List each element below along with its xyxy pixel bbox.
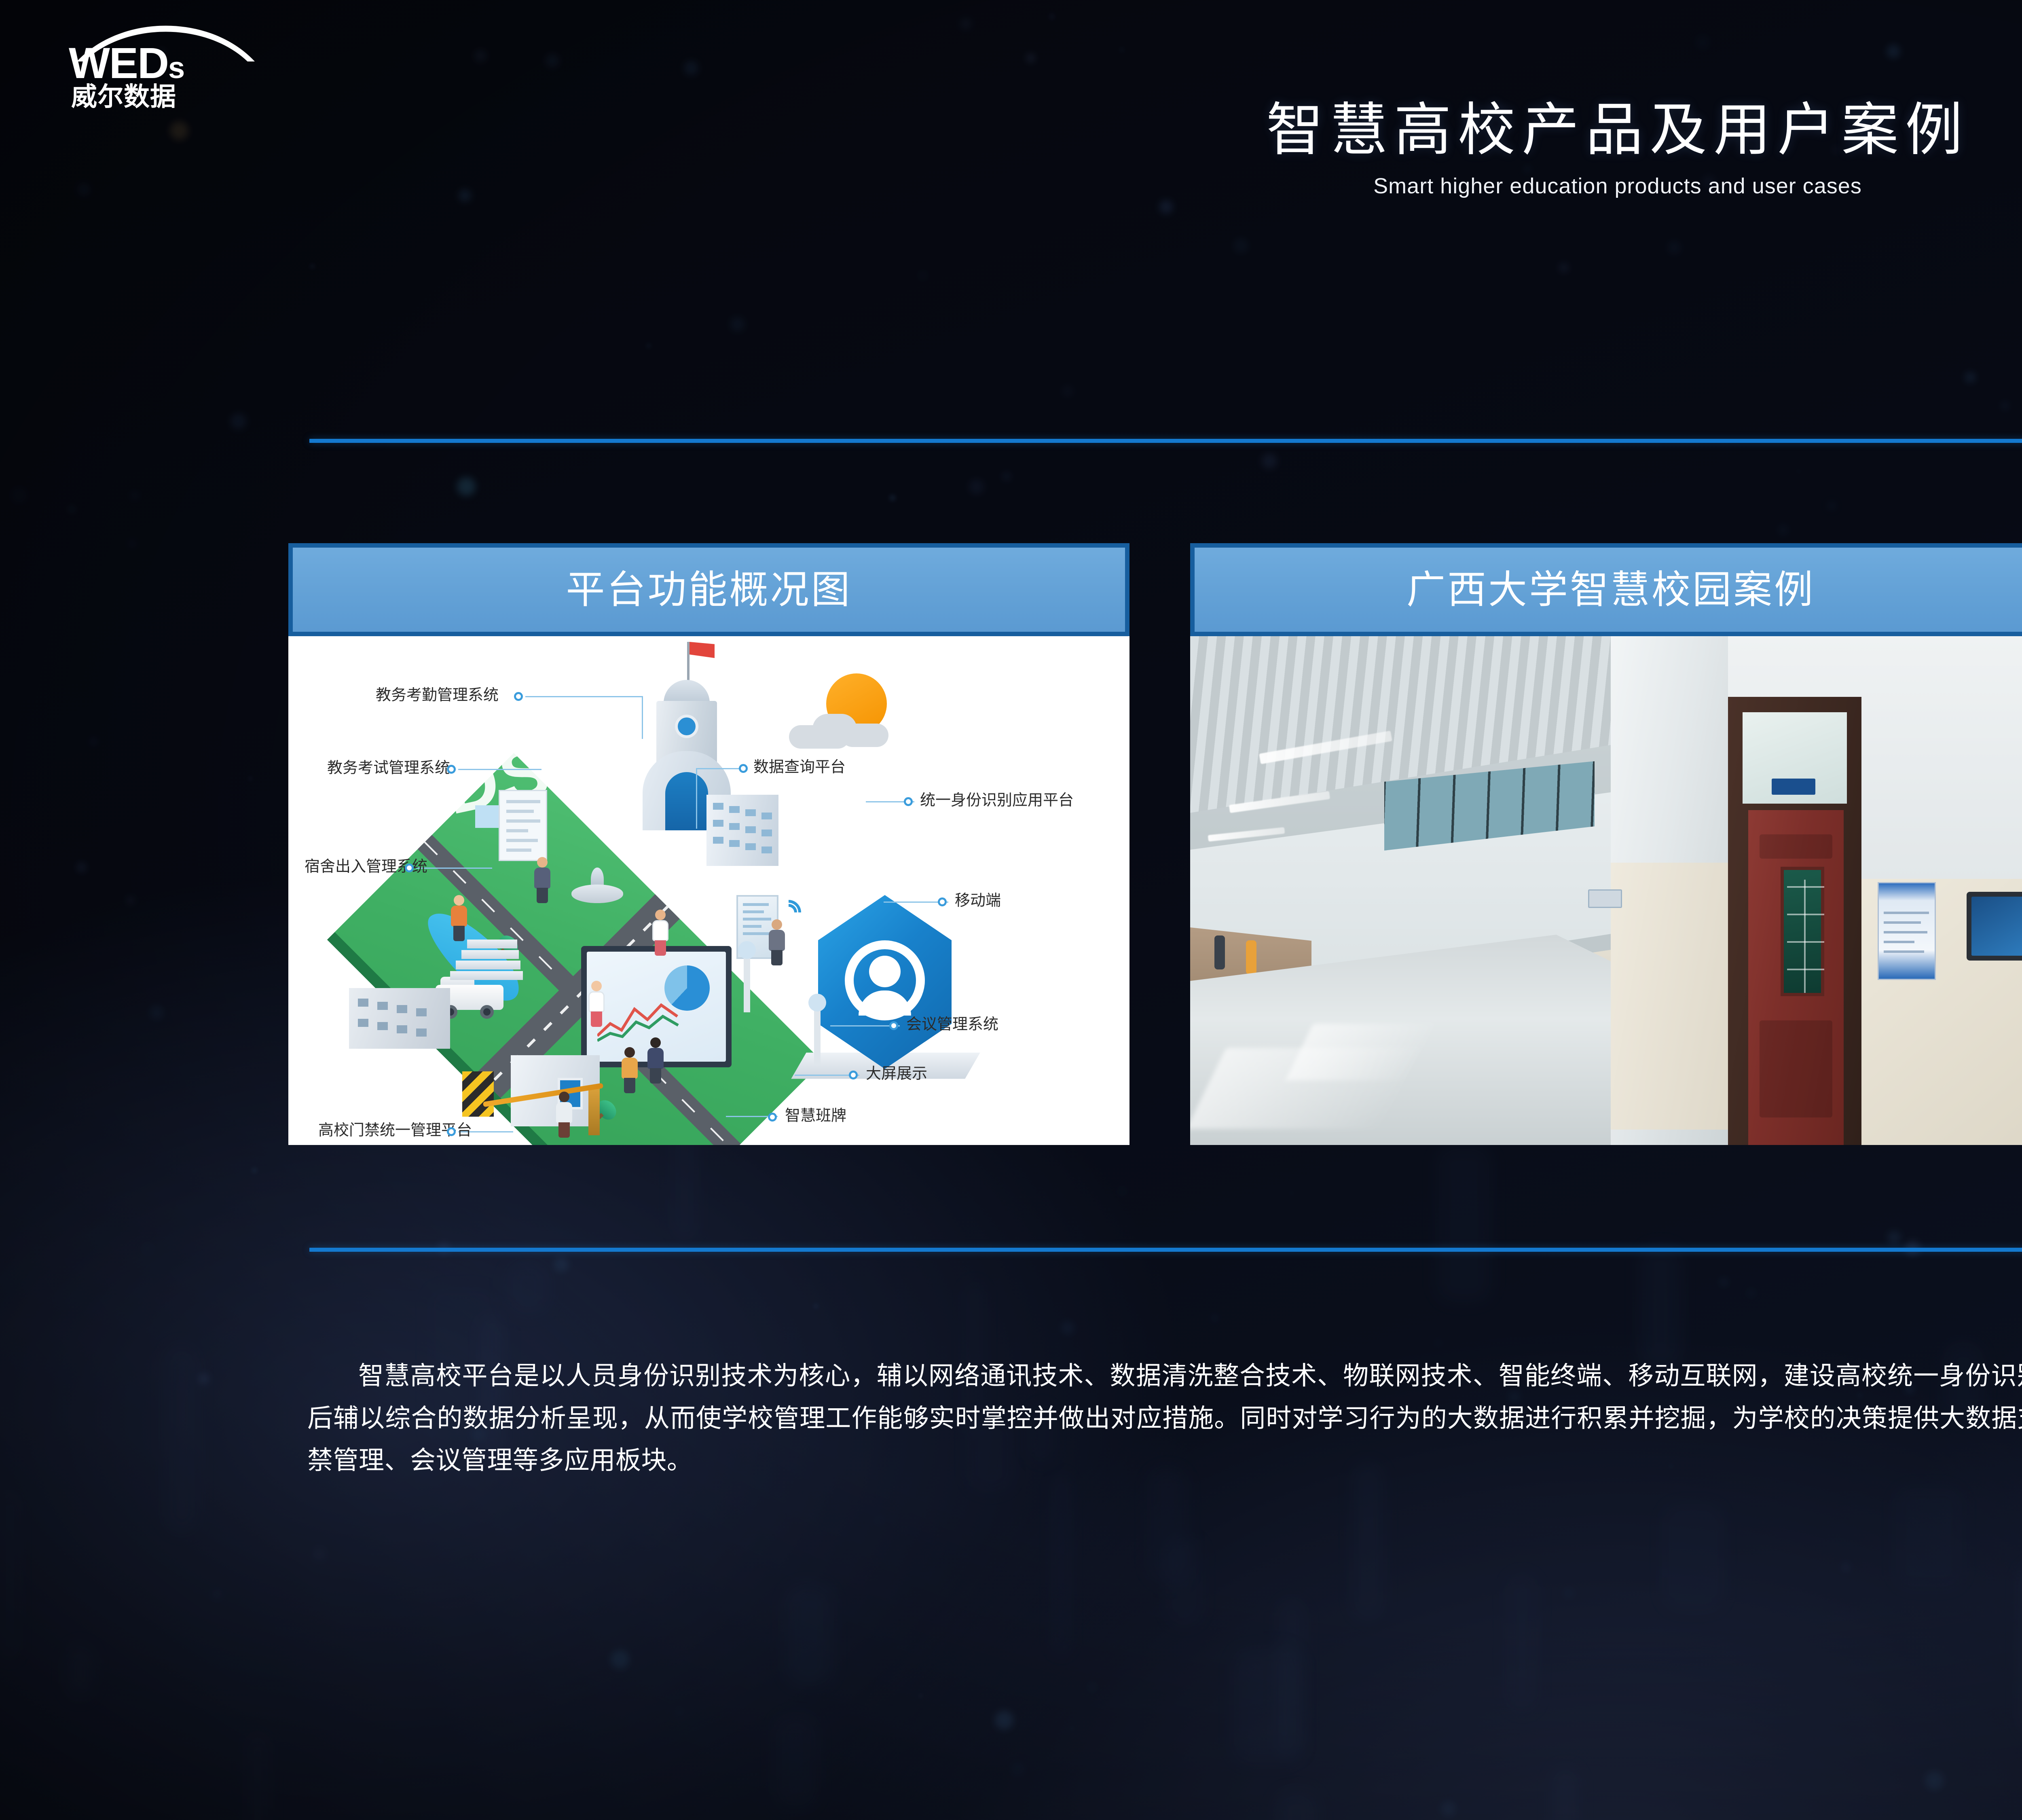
diagram-dot-meeting [889,1021,898,1030]
person-figure [450,895,468,940]
door-window-grid [1781,867,1824,996]
wall-access-tablet[interactable] [1967,892,2022,961]
person-figure [621,1047,639,1092]
diagram-dot-mobile [938,897,947,906]
platform-overview-diagram: WEDS [288,636,1129,1145]
card-body-guangxi-university [1190,636,2022,1145]
page-subtitle: Smart higher education products and user… [0,174,2022,199]
campus-access-gate [458,1041,636,1145]
diagram-dot-big-screen [849,1071,858,1079]
logo-chinese-name: 威尔数据 [71,84,176,110]
person-figure [533,857,551,902]
page-title-block: 智慧高校产品及用户案例 Smart higher education produ… [0,97,2022,199]
diagram-label-class-board: 智慧班牌 [785,1108,846,1123]
logo-wordmark-small: s [168,51,184,85]
stairs [450,935,527,988]
card-reader[interactable] [1588,889,1622,908]
person-figure [651,910,669,955]
card-header-label: 广西大学智慧校园案例 [1407,570,1815,609]
person-figure [647,1037,664,1083]
person-figure [555,1092,573,1137]
person-figure [1214,935,1225,969]
room-number-plate [1772,779,1815,795]
diagram-dot-dormitory [405,863,414,872]
diagram-dot-attendance [514,692,523,701]
diagram-label-identity: 统一身份识别应用平台 [920,792,1074,808]
fountain [571,863,623,903]
card-platform-overview[interactable]: 平台功能概况图 [288,543,1129,1150]
diagram-label-attendance: 教务考勤管理系统 [376,687,499,703]
exam-paper-icon [499,790,547,861]
body-paragraph: 智慧高校平台是以人员身份识别技术为核心，辅以网络通讯技术、数据清洗整合技术、物联… [307,1355,2022,1482]
brand-logo: WEDs 威尔数据 [61,16,271,109]
card-header-guangxi-university: 广西大学智慧校园案例 [1190,543,2022,636]
flag-icon [690,642,715,658]
diagram-label-data-query: 数据查询平台 [753,759,846,775]
diagram-label-exam: 教务考试管理系统 [327,760,450,775]
diagram-label-meeting: 会议管理系统 [906,1016,998,1032]
diagram-dot-data-query [739,764,748,773]
diagram-dot-class-board [768,1113,777,1122]
diagram-dot-exam [447,765,456,774]
card-header-label: 平台功能概况图 [566,570,852,609]
user-avatar-icon [869,956,901,987]
dormitory-building [349,988,450,1049]
divider-top [309,439,2022,443]
logo-wordmark: WEDs [69,41,263,85]
case-cards-row: 平台功能概况图 [288,543,2022,1150]
clock-icon [675,715,698,738]
cloud-icon [789,711,890,749]
card-header-platform-overview: 平台功能概况图 [288,543,1129,636]
diagram-label-big-screen: 大屏展示 [866,1066,927,1081]
barrier-stripes-icon [462,1071,494,1117]
person-figure [588,981,605,1026]
divider-bottom [309,1248,2022,1252]
diagram-label-mobile: 移动端 [955,893,1001,908]
card-body-platform-overview: WEDS [288,636,1129,1145]
person-figure [768,919,786,965]
logo-wordmark-main: WED [69,38,168,87]
card-guangxi-university[interactable]: 广西大学智慧校园案例 [1190,543,2022,1150]
person-figure [1246,940,1256,974]
notice-board [1878,882,1936,980]
page-title: 智慧高校产品及用户案例 [0,97,2022,163]
main-building [620,701,753,871]
diagram-dot-access-platform [447,1127,456,1136]
diagram-dot-identity [904,797,913,806]
identity-platform-cube [818,895,952,1069]
photo-guangxi-corridor [1190,636,2022,1145]
